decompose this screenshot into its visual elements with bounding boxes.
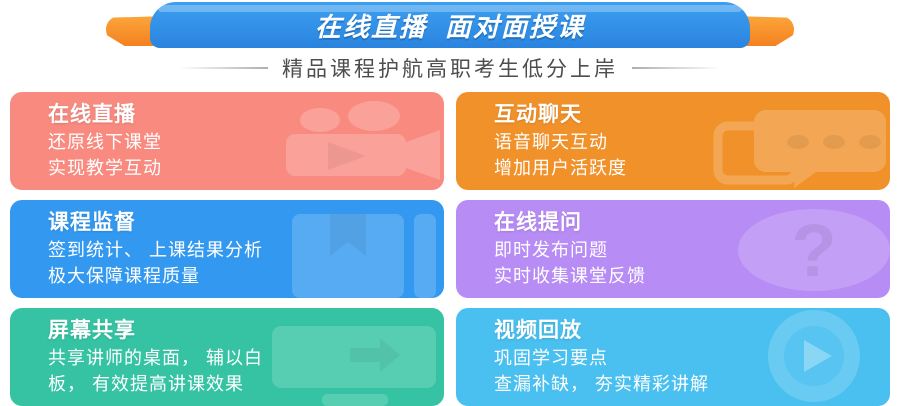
- feature-card-grid: 在线直播 还原线下课堂 实现教学互动 互动聊天 语音聊天互动 增加用户活跃度: [10, 92, 890, 406]
- banner-title-left: 在线直播: [315, 7, 427, 44]
- card-line-1: 巩固学习要点: [494, 345, 890, 371]
- card-title: 课程监督: [48, 209, 444, 237]
- card-line-1: 共享讲师的桌面， 辅以白: [48, 345, 444, 371]
- feature-card-screen-share[interactable]: 屏幕共享 共享讲师的桌面， 辅以白 板， 有效提高讲课效果: [10, 308, 444, 406]
- subtitle-row: 精品课程护航高职考生低分上岸: [0, 50, 900, 86]
- banner-header: 在线直播 面对面授课: [0, 0, 900, 50]
- card-line-2: 实时收集课堂反馈: [494, 263, 890, 289]
- card-title: 视频回放: [494, 317, 890, 345]
- card-line-2: 极大保障课程质量: [48, 263, 444, 289]
- feature-card-online-question[interactable]: ? 在线提问 即时发布问题 实时收集课堂反馈: [456, 200, 890, 298]
- banner-ribbon: 在线直播 面对面授课: [150, 2, 750, 48]
- card-title: 屏幕共享: [48, 317, 444, 345]
- banner-title-right: 面对面授课: [445, 7, 585, 44]
- subtitle-rule-right: [632, 67, 722, 69]
- card-line-1: 语音聊天互动: [494, 129, 890, 155]
- subtitle-text: 精品课程护航高职考生低分上岸: [282, 53, 618, 83]
- card-title: 在线提问: [494, 209, 890, 237]
- card-line-1: 还原线下课堂: [48, 129, 444, 155]
- subtitle-rule-left: [178, 67, 268, 69]
- feature-card-video-replay[interactable]: 视频回放 巩固学习要点 查漏补缺， 夯实精彩讲解: [456, 308, 890, 406]
- feature-card-interactive-chat[interactable]: 互动聊天 语音聊天互动 增加用户活跃度: [456, 92, 890, 190]
- card-line-1: 签到统计、 上课结果分析: [48, 237, 444, 263]
- card-line-1: 即时发布问题: [494, 237, 890, 263]
- card-title: 互动聊天: [494, 101, 890, 129]
- feature-card-course-supervision[interactable]: 课程监督 签到统计、 上课结果分析 极大保障课程质量: [10, 200, 444, 298]
- card-line-2: 查漏补缺， 夯实精彩讲解: [494, 371, 890, 397]
- card-line-2: 增加用户活跃度: [494, 155, 890, 181]
- card-line-2: 实现教学互动: [48, 155, 444, 181]
- card-line-2: 板， 有效提高讲课效果: [48, 371, 444, 397]
- banner-title: 在线直播 面对面授课: [150, 2, 750, 48]
- card-title: 在线直播: [48, 101, 444, 129]
- feature-card-live-streaming[interactable]: 在线直播 还原线下课堂 实现教学互动: [10, 92, 444, 190]
